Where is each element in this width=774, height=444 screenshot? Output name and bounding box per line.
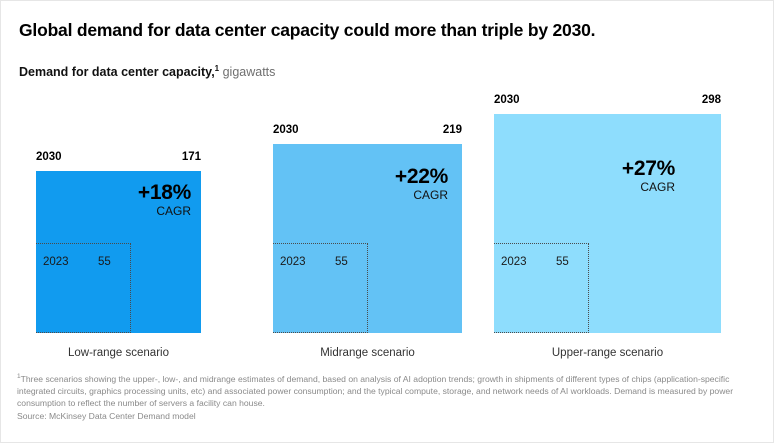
inner-value-label: 55 <box>98 256 111 268</box>
scenario-label: Upper-range scenario <box>494 347 721 359</box>
cagr-caption: CAGR <box>395 188 448 202</box>
source-line: Source: McKinsey Data Center Demand mode… <box>17 411 196 421</box>
bar-square-2030[interactable]: +18% CAGR 2023 55 <box>36 171 201 333</box>
cagr-percent: +18% <box>138 182 191 204</box>
cagr-percent: +22% <box>395 166 448 188</box>
bar-square-2030[interactable]: +22% CAGR 2023 55 <box>273 144 462 333</box>
cagr-annotation: +18% CAGR <box>138 182 191 218</box>
footnote-text: Three scenarios showing the upper-, low-… <box>17 374 733 408</box>
bar-top-value-label: 219 <box>443 124 462 136</box>
bar-top-value-label: 171 <box>182 151 201 163</box>
scenario-label: Midrange scenario <box>273 347 462 359</box>
cagr-annotation: +22% CAGR <box>395 166 448 202</box>
footnote: 1Three scenarios showing the upper-, low… <box>17 372 759 409</box>
scenario-group-upper-range: 2030 298 +27% CAGR 2023 55 Upper-range s… <box>494 94 721 366</box>
bar-top-year-label: 2030 <box>36 151 62 163</box>
bar-top-value-label: 298 <box>702 94 721 106</box>
scenario-group-low-range: 2030 171 +18% CAGR 2023 55 Low-range sce… <box>36 151 201 366</box>
exhibit-container: Global demand for data center capacity c… <box>0 0 774 443</box>
inner-year-label: 2023 <box>280 256 306 268</box>
cagr-percent: +27% <box>622 158 675 180</box>
scenario-label: Low-range scenario <box>36 347 201 359</box>
bar-top-year-label: 2030 <box>494 94 520 106</box>
cagr-caption: CAGR <box>138 204 191 218</box>
scenario-group-midrange: 2030 219 +22% CAGR 2023 55 Midrange scen… <box>273 124 462 366</box>
inner-year-label: 2023 <box>43 256 69 268</box>
inner-value-label: 55 <box>556 256 569 268</box>
bar-top-year-label: 2030 <box>273 124 299 136</box>
cagr-annotation: +27% CAGR <box>622 158 675 194</box>
bar-square-2030[interactable]: +27% CAGR 2023 55 <box>494 114 721 333</box>
inner-year-label: 2023 <box>501 256 527 268</box>
cagr-caption: CAGR <box>622 180 675 194</box>
inner-value-label: 55 <box>335 256 348 268</box>
